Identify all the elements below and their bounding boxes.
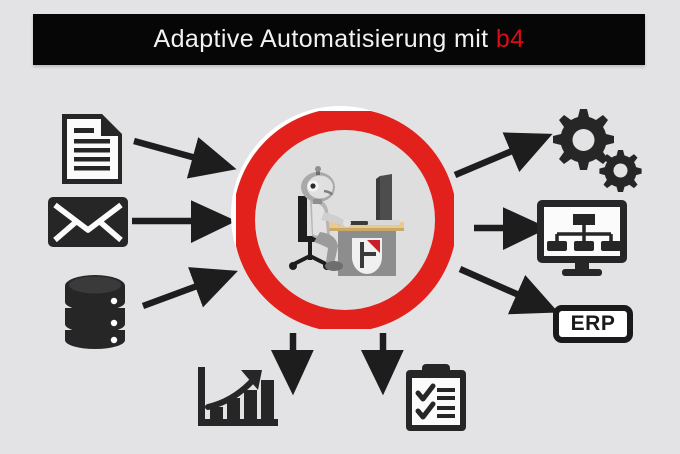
arrow-center-to-gears xyxy=(455,143,531,175)
input-document[interactable] xyxy=(58,110,126,188)
gears-icon xyxy=(546,108,642,192)
database-icon xyxy=(62,272,128,350)
b4-shield-logo xyxy=(352,238,382,274)
input-email[interactable] xyxy=(47,196,129,248)
page-title: Adaptive Automatisierung mit b4 xyxy=(154,25,525,54)
page-title-accent: b4 xyxy=(496,25,525,53)
arrow-document-to-center xyxy=(134,141,214,163)
input-database[interactable] xyxy=(62,272,128,350)
title-banner: Adaptive Automatisierung mit b4 xyxy=(33,14,645,65)
growth-chart-icon xyxy=(192,365,284,433)
robot-at-desk-illustration xyxy=(280,166,412,278)
arrow-database-to-center xyxy=(143,279,216,306)
output-workflow[interactable] xyxy=(535,198,633,278)
central-automation-hub[interactable] xyxy=(231,106,449,324)
document-icon xyxy=(58,110,126,188)
output-gears[interactable] xyxy=(546,108,642,192)
envelope-icon xyxy=(47,196,129,248)
result-growth-chart[interactable] xyxy=(192,365,284,433)
clipboard-checklist-icon xyxy=(403,363,473,433)
output-erp[interactable]: ERP xyxy=(553,305,633,343)
arrow-center-to-erp xyxy=(460,269,537,303)
result-checklist[interactable] xyxy=(403,363,473,433)
erp-label: ERP xyxy=(571,312,616,336)
infographic-canvas: Adaptive Automatisierung mit b4 xyxy=(0,0,680,454)
page-title-main: Adaptive Automatisierung mit xyxy=(154,25,496,53)
monitor-workflow-icon xyxy=(535,198,633,278)
